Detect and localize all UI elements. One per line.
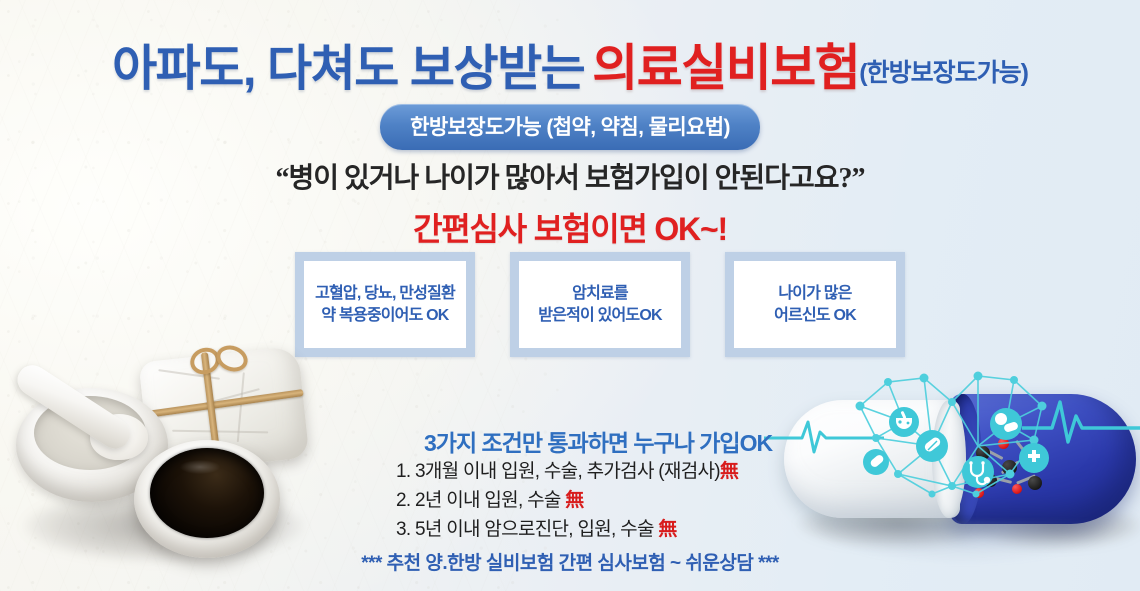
condition-box-1-line2: 약 복용중이어도 OK — [321, 307, 448, 324]
list-item-3-text: 3. 5년 이내 암으로진단, 입원, 수술 — [396, 519, 658, 540]
list-item: 1. 3개월 이내 입원, 수술, 추가검사 (재검사)無 — [396, 458, 738, 487]
condition-box-2-text: 암치료를 받은적이 있어도OK — [538, 283, 662, 326]
conditions-title: 3가지 조건만 통과하면 누구나 가입OK — [424, 424, 772, 458]
footer-tagline: *** 추천 양.한방 실비보험 간편 심사보험 ~ 쉬운상담 *** — [0, 548, 1140, 575]
condition-box-2-line2: 받은적이 있어도OK — [538, 307, 662, 324]
list-item-1-text: 1. 3개월 이내 입원, 수술, 추가검사 (재검사) — [396, 461, 720, 482]
list-item-2-mark: 無 — [565, 490, 583, 511]
condition-box-2-line1: 암치료를 — [572, 285, 628, 302]
mortar-icon — [889, 407, 919, 437]
insurance-promo-banner: 아파도, 다쳐도 보상받는의료실비보험(한방보장도가능) 한방보장도가능 (첩약… — [0, 0, 1140, 591]
answer-subheading: 간편심사 보험이면 OK~! — [0, 204, 1140, 250]
capsule-icon — [916, 430, 948, 462]
condition-box-1: 고혈압, 당뇨, 만성질환 약 복용중이어도 OK — [295, 252, 475, 357]
list-item-2-text: 2. 2년 이내 입원, 수술 — [396, 490, 565, 511]
badge-container: 한방보장도가능 (첩약, 약침, 물리요법) — [0, 104, 1140, 150]
list-item-3-mark: 無 — [658, 519, 676, 540]
conditions-list: 1. 3개월 이내 입원, 수술, 추가검사 (재검사)無 2. 2년 이내 입… — [396, 458, 738, 545]
capsule-small-icon — [863, 449, 889, 475]
medical-cross-icon — [1019, 443, 1049, 473]
stethoscope-icon — [962, 456, 994, 488]
question-quote: “병이 있거나 나이가 많아서 보험가입이 안된다고요?” — [0, 156, 1140, 196]
condition-boxes: 고혈압, 당뇨, 만성질환 약 복용중이어도 OK 암치료를 받은적이 있어도O… — [295, 252, 905, 357]
medical-network-graphic — [828, 362, 1078, 512]
headline-red-text: 의료실비보험 — [592, 40, 859, 96]
page-title: 아파도, 다쳐도 보상받는의료실비보험(한방보장도가능) — [0, 28, 1140, 100]
liquid-highlight — [180, 460, 220, 474]
list-item: 3. 5년 이내 암으로진단, 입원, 수술 無 — [396, 516, 738, 545]
headline-blue-text: 아파도, 다쳐도 보상받는 — [112, 42, 584, 96]
condition-box-3-line1: 나이가 많은 — [778, 285, 851, 302]
packet-crease — [172, 430, 268, 434]
condition-box-2: 암치료를 받은적이 있어도OK — [510, 252, 690, 357]
coverage-badge: 한방보장도가능 (첩약, 약침, 물리요법) — [380, 104, 760, 150]
condition-box-3: 나이가 많은 어르신도 OK — [725, 252, 905, 357]
condition-box-1-line1: 고혈압, 당뇨, 만성질환 — [315, 285, 455, 302]
condition-box-3-text: 나이가 많은 어르신도 OK — [774, 283, 856, 326]
condition-box-1-text: 고혈압, 당뇨, 만성질환 약 복용중이어도 OK — [315, 283, 455, 326]
condition-box-3-line2: 어르신도 OK — [774, 307, 856, 324]
capsule-network-graphic — [782, 372, 1140, 572]
list-item-1-mark: 無 — [720, 461, 738, 482]
headline-suffix-text: (한방보장도가능) — [859, 59, 1028, 87]
pills-icon — [990, 408, 1022, 440]
list-item: 2. 2년 이내 입원, 수술 無 — [396, 487, 738, 516]
